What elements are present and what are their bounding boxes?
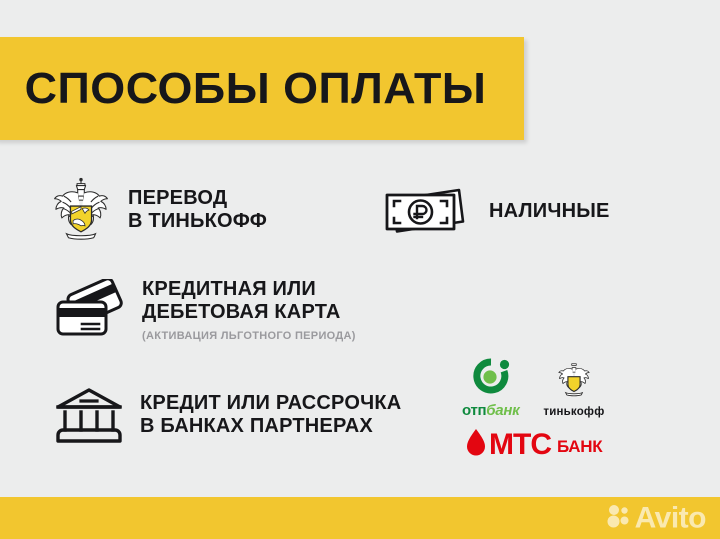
card-labels: КРЕДИТНАЯ ИЛИ ДЕБЕТОВАЯ КАРТА (АКТИВАЦИЯ…: [142, 278, 356, 343]
otp-bank-mark-icon: [470, 358, 512, 401]
avito-dots-icon: [606, 503, 632, 534]
payment-method-bank-credit: КРЕДИТ ИЛИ РАССРОЧКА В БАНКАХ ПАРТНЕРАХ: [50, 385, 401, 445]
transfer-tinkoff-labels: ПЕРЕВОД В ТИНЬКОФФ: [128, 187, 267, 234]
method-line-1: КРЕДИТ ИЛИ РАССРОЧКА: [140, 392, 401, 415]
cash-labels: НАЛИЧНЫЕ: [489, 200, 610, 223]
partner-tinkoff-bank: тинькофф: [543, 360, 604, 419]
otp-word-secondary: банк: [486, 402, 519, 419]
partner-otp-bank: отпбанк: [462, 358, 519, 418]
tinkoff-wordmark: тинькофф: [543, 407, 604, 419]
otp-word-primary: отп: [462, 402, 486, 419]
method-line-1: КРЕДИТНАЯ ИЛИ: [142, 278, 356, 301]
mts-egg-icon: [466, 428, 486, 461]
bank-credit-labels: КРЕДИТ ИЛИ РАССРОЧКА В БАНКАХ ПАРТНЕРАХ: [140, 392, 401, 439]
partner-bank-logos: отпбанк тинькофф: [462, 358, 662, 463]
mts-bank-word: БАНК: [557, 438, 602, 455]
title-banner: СПОСОБЫ ОПЛАТЫ: [0, 37, 524, 140]
method-line-1: НАЛИЧНЫЕ: [489, 200, 610, 223]
payment-method-transfer-tinkoff: ПЕРЕВОД В ТИНЬКОФФ: [48, 177, 267, 243]
avito-watermark-band: Avito: [0, 497, 720, 539]
method-line-1: ПЕРЕВОД: [128, 187, 267, 210]
tinkoff-crest-small-icon: [554, 360, 594, 403]
card-note: (АКТИВАЦИЯ ЛЬГОТНОГО ПЕРИОДА): [142, 330, 356, 343]
banknote-ruble-icon: [381, 184, 473, 240]
partner-logos-top-row: отпбанк тинькофф: [462, 358, 662, 418]
method-line-2: В БАНКАХ ПАРТНЕРАХ: [140, 415, 401, 438]
payment-method-cash: НАЛИЧНЫЕ: [381, 184, 610, 240]
avito-wordmark: Avito: [635, 503, 706, 533]
payment-methods-poster: СПОСОБЫ ОПЛАТЫ: [0, 0, 720, 539]
method-line-2: В ТИНЬКОФФ: [128, 210, 267, 233]
credit-cards-icon: [52, 279, 130, 341]
partner-mts-bank: МТС БАНК: [466, 428, 662, 461]
avito-logo: Avito: [606, 503, 706, 534]
page-title: СПОСОБЫ ОПЛАТЫ: [0, 67, 486, 111]
payment-method-card: КРЕДИТНАЯ ИЛИ ДЕБЕТОВАЯ КАРТА (АКТИВАЦИЯ…: [52, 278, 356, 343]
tinkoff-crest-icon: [48, 177, 114, 243]
method-line-2: ДЕБЕТОВАЯ КАРТА: [142, 301, 356, 324]
mts-wordmark: МТС: [489, 430, 551, 460]
otp-bank-wordmark: отпбанк: [462, 403, 519, 418]
bank-building-icon: [50, 385, 128, 445]
